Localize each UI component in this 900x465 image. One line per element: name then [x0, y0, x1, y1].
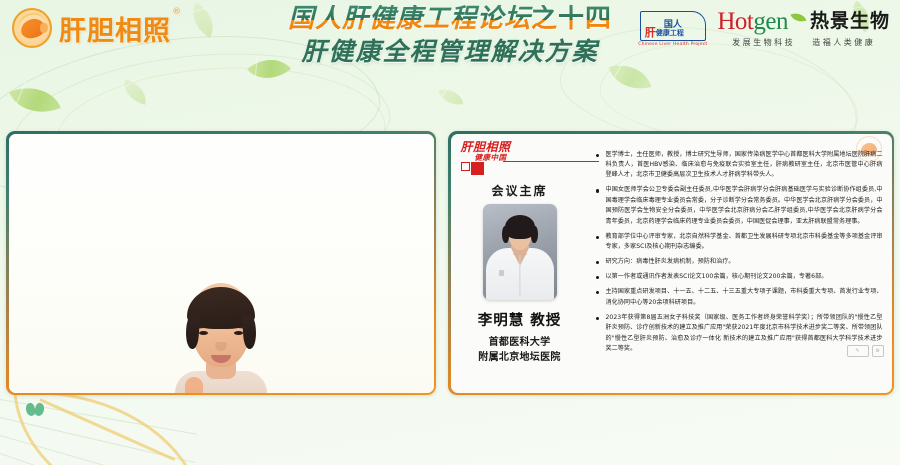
bio-panel-inner: 肝胆相照 健康中国 会议主席 李明慧 教授 首都医科大学 附属北 — [451, 134, 892, 393]
live-video-panel[interactable] — [6, 131, 436, 395]
hotgen-tagline-left: 发展生物科技 — [732, 38, 795, 47]
registered-mark: ® — [172, 7, 182, 17]
video-panel-inner — [9, 134, 434, 393]
speaker-organization: 首都医科大学 附属北京地坛医院 — [478, 336, 560, 365]
forum-subtitle: 肝健康全程管理解决方案 — [240, 37, 660, 67]
hotgen-chinese-name: 热景生物 — [810, 12, 890, 31]
presenter-webcam-figure — [175, 261, 267, 393]
brand-gandanxiangzhao[interactable]: 肝胆相照 ® — [12, 8, 171, 48]
list-item: 中国女医师学会公卫专委会副主任委员,中华医学会肝病学分会肝病基础医学与实验诊断协… — [595, 185, 883, 227]
gandanxiangzhao-logo-icon — [12, 8, 52, 48]
clhp-cn-red: 肝 — [645, 27, 656, 38]
speaker-bio-content: 医学博士，主任医师，教授，博士研究生导师，国家传染病医学中心首都医科大学附属地坛… — [589, 134, 892, 393]
hotgen-tagline-right: 造福人类健康 — [812, 38, 875, 47]
ganzang-brand-logo: 肝胆相照 健康中国 — [461, 141, 511, 176]
speaker-portrait — [483, 204, 557, 300]
speaker-org-line2: 附属北京地坛医院 — [478, 351, 560, 366]
speaker-bio-panel[interactable]: 肝胆相照 健康中国 会议主席 李明慧 教授 首都医科大学 附属北 — [448, 131, 894, 395]
forum-title-line1: 国人肝健康工程论坛之十四 — [240, 5, 660, 35]
list-item: 主持国家重点研发项目、十一五、十二五、十三五重大专项子课题，市科委重大专项、首发… — [595, 287, 883, 308]
list-item: 医学博士，主任医师，教授，博士研究生导师，国家传染病医学中心首都医科大学附属地坛… — [595, 150, 883, 181]
list-item: 教育部学位中心评审专家，北京自然科学基金、首都卫生发展科研专项北京市科委基金等多… — [595, 232, 883, 253]
ganzang-logo-rule — [503, 161, 599, 162]
conference-chair-label: 会议主席 — [491, 182, 547, 199]
page-header: 肝胆相照 ® 国人肝健康工程论坛之十四 肝健康全程管理解决方案 国人 肝 健康工… — [0, 0, 900, 118]
clhp-cn-blue: 健康工程 — [656, 30, 684, 37]
list-item: 2023年获得第8届五洲女子科技奖（国家级、医务工作者终身荣誉科学奖）；所带领团… — [595, 313, 883, 355]
butterfly-icon — [26, 403, 44, 417]
hotgen-tagline: 发展生物科技 造福人类健康 — [726, 37, 881, 48]
watermark-toolbar-icon: ✎ ⊕ — [847, 345, 884, 357]
brand-title: 肝胆相照 ® — [59, 9, 171, 48]
china-liver-health-project-logo[interactable]: 国人 肝 健康工程 Chinese Liver Health Project — [638, 11, 707, 47]
speaker-name: 李明慧 教授 — [478, 309, 562, 330]
watermark-edit-icon: ✎ — [847, 345, 869, 357]
hotgen-leaf-icon — [790, 10, 806, 25]
bio-bullet-list: 医学博士，主任医师，教授，博士研究生导师，国家传染病医学中心首都医科大学附属地坛… — [595, 150, 883, 355]
clhp-english-name: Chinese Liver Health Project — [638, 42, 707, 47]
hotgen-english-name: Hotgen — [717, 9, 788, 34]
ganzang-logo-line1: 肝胆相照 — [461, 141, 511, 153]
brand-title-text: 肝胆相照 — [59, 16, 171, 47]
hotgen-biotech-logo[interactable]: Hotgen 热景生物 发展生物科技 造福人类健康 — [717, 9, 890, 48]
speaker-card: 肝胆相照 健康中国 会议主席 李明慧 教授 首都医科大学 附属北 — [451, 134, 589, 393]
list-item: 以第一作者或通讯作者发表SCI论文100余篇，核心期刊论文200余篇，专著6部。 — [595, 272, 883, 282]
forum-title-block: 国人肝健康工程论坛之十四 肝健康全程管理解决方案 — [240, 5, 660, 67]
partner-logos: 国人 肝 健康工程 Chinese Liver Health Project H… — [638, 9, 890, 48]
ganzang-logo-blocks-icon — [461, 162, 511, 175]
video-feed-surface[interactable] — [9, 134, 434, 393]
watermark-search-icon: ⊕ — [872, 345, 884, 357]
clhp-mark-icon: 国人 肝 健康工程 — [640, 11, 706, 41]
speaker-org-line1: 首都医科大学 — [478, 336, 560, 351]
forum-title-tail: 之十四 — [531, 4, 612, 34]
forum-title-main: 国人肝健康工程论坛 — [288, 4, 531, 34]
list-item: 研究方向：病毒性肝炎发病机制，预防和治疗。 — [595, 257, 883, 267]
